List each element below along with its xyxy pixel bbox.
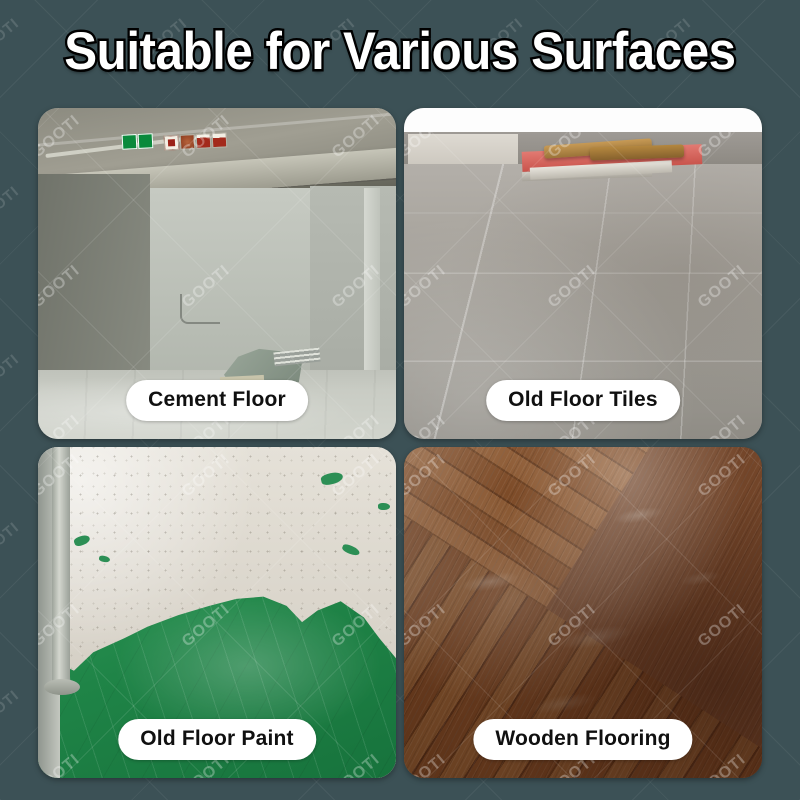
header: Suitable for Various Surfaces — [0, 0, 800, 102]
panel-caption-old-floor-tiles: Old Floor Tiles — [486, 380, 680, 421]
panel-old-floor-paint[interactable]: GOOTIGOOTIGOOTIGOOTIGOOTIGOOTIGOOTIGOOTI… — [38, 447, 396, 778]
pipe-column — [52, 447, 70, 692]
overexposed-band — [404, 108, 762, 132]
panel-cement-floor[interactable]: GOOTIGOOTIGOOTIGOOTIGOOTIGOOTIGOOTIGOOTI… — [38, 108, 396, 439]
panel-caption-wooden-flooring: Wooden Flooring — [473, 719, 692, 760]
panel-old-floor-tiles[interactable]: GOOTIGOOTIGOOTIGOOTIGOOTIGOOTIGOOTIGOOTI… — [404, 108, 762, 439]
exit-sign-icon — [122, 133, 154, 151]
wall-left — [38, 174, 150, 374]
page-title: Suitable for Various Surfaces — [64, 21, 735, 82]
column — [364, 188, 380, 372]
watermark-label: GOOTI — [0, 519, 23, 566]
pipe-base — [44, 679, 80, 695]
panel-wooden-flooring[interactable]: GOOTIGOOTIGOOTIGOOTIGOOTIGOOTIGOOTIGOOTI… — [404, 447, 762, 778]
fire-equipment-sign-icon — [164, 132, 228, 151]
watermark-label: GOOTI — [0, 687, 23, 734]
wall-right — [310, 186, 396, 372]
watermark-label: GOOTI — [0, 183, 23, 230]
surface-panel-grid: GOOTIGOOTIGOOTIGOOTIGOOTIGOOTIGOOTIGOOTI… — [38, 108, 762, 778]
wall-markings — [180, 294, 220, 324]
watermark-label: GOOTI — [0, 351, 23, 398]
panel-caption-cement-floor: Cement Floor — [126, 380, 308, 421]
panel-caption-old-floor-paint: Old Floor Paint — [118, 719, 316, 760]
